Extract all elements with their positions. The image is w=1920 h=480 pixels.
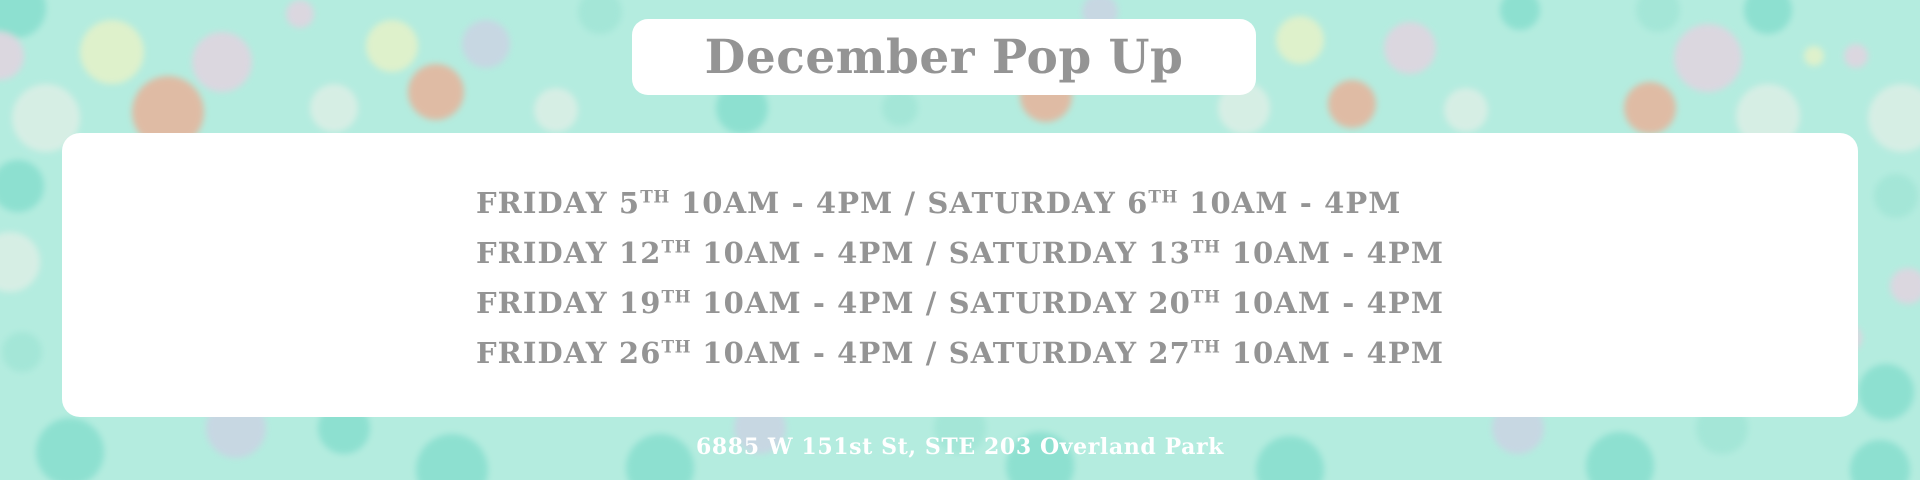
friday-date: FRIDAY 26 <box>476 336 662 370</box>
friday-ordinal: TH <box>661 286 691 306</box>
saturday-hours: 10AM - 4PM <box>1221 336 1444 370</box>
saturday-ordinal: TH <box>1148 186 1178 206</box>
friday-date: FRIDAY 19 <box>476 286 662 320</box>
saturday-hours: 10AM - 4PM <box>1221 286 1444 320</box>
decorative-dot <box>286 0 314 28</box>
schedule-row: FRIDAY 5TH 10AM - 4PM / SATURDAY 6TH 10A… <box>476 178 1444 228</box>
decorative-dot <box>1874 174 1918 218</box>
decorative-dot <box>1444 88 1488 132</box>
decorative-dot <box>1328 80 1376 128</box>
saturday-hours: 10AM - 4PM <box>1178 186 1401 220</box>
decorative-dot <box>2 332 42 372</box>
title-card: December Pop Up <box>632 19 1256 95</box>
decorative-dot <box>80 20 144 84</box>
decorative-dot <box>408 64 464 120</box>
decorative-dot <box>1384 22 1436 74</box>
friday-ordinal: TH <box>661 236 691 256</box>
friday-date: FRIDAY 12 <box>476 236 662 270</box>
friday-ordinal: TH <box>640 186 670 206</box>
decorative-dot <box>1674 24 1742 92</box>
decorative-dot <box>1624 82 1676 134</box>
decorative-dot <box>192 32 252 92</box>
decorative-dot <box>1804 46 1824 66</box>
saturday-ordinal: TH <box>1191 336 1221 356</box>
schedule-card: FRIDAY 5TH 10AM - 4PM / SATURDAY 6TH 10A… <box>62 133 1858 417</box>
saturday-date: 10AM - 4PM / SATURDAY 13 <box>691 236 1191 270</box>
decorative-dot <box>882 90 918 126</box>
decorative-dot <box>1276 16 1324 64</box>
decorative-dot <box>1858 364 1914 420</box>
promo-banner: December Pop Up FRIDAY 5TH 10AM - 4PM / … <box>0 0 1920 480</box>
saturday-ordinal: TH <box>1191 236 1221 256</box>
decorative-dot <box>534 88 578 132</box>
schedule-row: FRIDAY 19TH 10AM - 4PM / SATURDAY 20TH 1… <box>476 278 1444 328</box>
saturday-date: 10AM - 4PM / SATURDAY 20 <box>691 286 1191 320</box>
page-title: December Pop Up <box>705 34 1184 81</box>
schedule-row: FRIDAY 26TH 10AM - 4PM / SATURDAY 27TH 1… <box>476 328 1444 378</box>
saturday-date: 10AM - 4PM / SATURDAY 27 <box>691 336 1191 370</box>
decorative-dot <box>462 20 510 68</box>
friday-date: FRIDAY 5 <box>476 186 640 220</box>
address-text: 6885 W 151st St, STE 203 Overland Park <box>0 434 1920 460</box>
decorative-dot <box>310 84 358 132</box>
schedule-list: FRIDAY 5TH 10AM - 4PM / SATURDAY 6TH 10A… <box>476 178 1444 378</box>
decorative-dot <box>366 20 418 72</box>
saturday-hours: 10AM - 4PM <box>1221 236 1444 270</box>
schedule-row: FRIDAY 12TH 10AM - 4PM / SATURDAY 13TH 1… <box>476 228 1444 278</box>
saturday-ordinal: TH <box>1191 286 1221 306</box>
saturday-date: 10AM - 4PM / SATURDAY 6 <box>670 186 1149 220</box>
friday-ordinal: TH <box>661 336 691 356</box>
decorative-dot <box>1844 44 1868 68</box>
